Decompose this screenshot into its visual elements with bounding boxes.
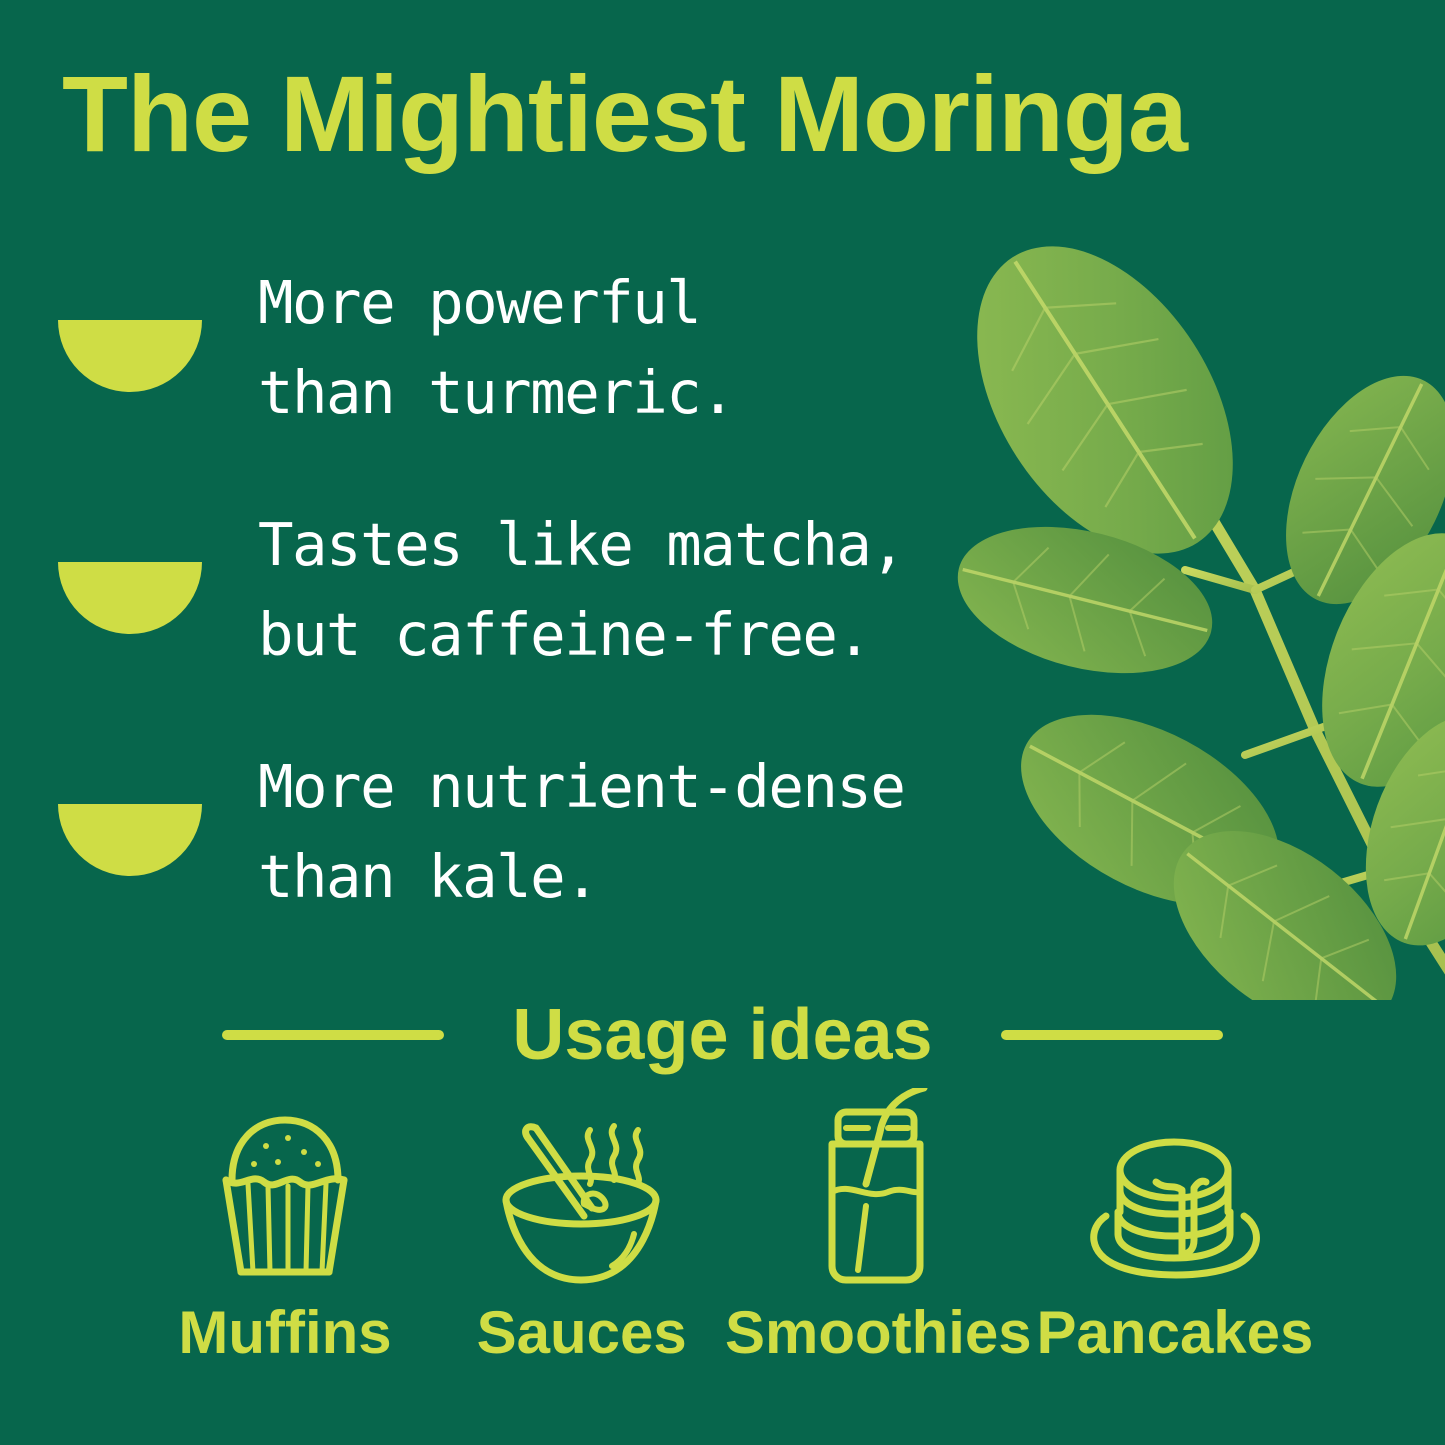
product-infographic: The Mightiest Moringa [0, 0, 1445, 1445]
benefit-item: More powerful than turmeric. [58, 258, 1018, 438]
benefit-text: More nutrient-dense than kale. [258, 742, 1018, 922]
benefit-item: Tastes like matcha, but caffeine-free. [58, 500, 1018, 680]
moringa-leaf-image [955, 170, 1445, 1000]
usage-label-pancakes: Pancakes [1037, 1302, 1314, 1364]
divider-line-right [1001, 1030, 1223, 1040]
half-circle-bullet-icon [58, 804, 202, 876]
usage-ideas-header: Usage ideas [0, 985, 1445, 1085]
usage-ideas-title: Usage ideas [512, 999, 932, 1071]
muffin-icon [200, 1098, 370, 1288]
usage-item-pancakes: Pancakes [1040, 1098, 1310, 1364]
divider-line-left [222, 1030, 444, 1040]
mason-jar-straw-icon [796, 1098, 961, 1288]
usage-label-muffins: Muffins [178, 1302, 391, 1364]
benefit-item: More nutrient-dense than kale. [58, 742, 1018, 922]
benefit-text: Tastes like matcha, but caffeine-free. [258, 500, 1018, 680]
usage-item-muffins: Muffins [150, 1098, 420, 1364]
usage-item-smoothies: Smoothies [743, 1098, 1013, 1364]
usage-label-smoothies: Smoothies [725, 1302, 1032, 1364]
pancake-stack-icon [1082, 1098, 1267, 1288]
half-circle-bullet-icon [58, 562, 202, 634]
page-title: The Mightiest Moringa [62, 58, 1402, 170]
benefit-text: More powerful than turmeric. [258, 258, 1018, 438]
usage-item-sauces: Sauces [447, 1098, 717, 1364]
usage-ideas-list: Muffins [150, 1098, 1310, 1364]
usage-label-sauces: Sauces [477, 1302, 687, 1364]
benefit-list: More powerful than turmeric. Tastes like… [58, 258, 1018, 984]
bowl-spoon-icon [494, 1098, 669, 1288]
half-circle-bullet-icon [58, 320, 202, 392]
